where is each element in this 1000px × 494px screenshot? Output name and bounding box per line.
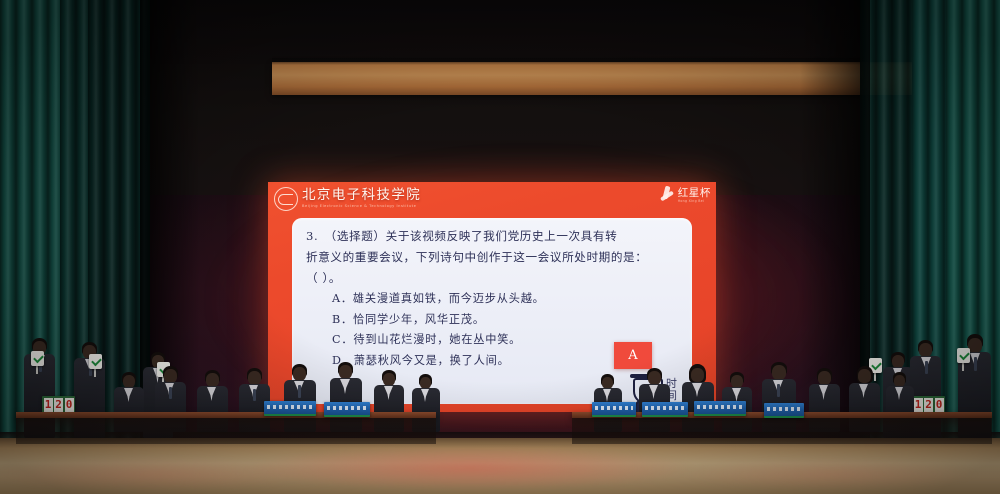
name-placard-left-2 — [324, 402, 370, 417]
question-line-2: 折意义的重要会议，下列诗句中创作于这一会议所处时期的是： — [306, 247, 678, 268]
head — [164, 369, 177, 383]
institution-name-en: Beijing Electronic Science & Technology … — [302, 205, 421, 209]
paddle-handle-left-1 — [36, 365, 38, 374]
answer-indicator-letter: A — [628, 348, 637, 363]
tie — [925, 361, 928, 374]
cup-name-en: Hong Xing Bei — [678, 200, 711, 203]
institution-logo: 北京电子科技学院 Beijing Electronic Science & Te… — [274, 187, 421, 211]
head — [968, 338, 982, 353]
scoreboard-left: 1 2 0 — [42, 396, 75, 413]
head — [691, 368, 704, 382]
stage-floor-reflection — [0, 448, 1000, 494]
head — [648, 371, 661, 385]
check-paddle-right-3 — [957, 348, 970, 363]
paddle-handle-right-3 — [962, 362, 964, 371]
scoreboard-left-digit-1: 1 — [44, 398, 53, 412]
answer-indicator-badge: A — [614, 342, 652, 369]
star-runner-icon — [659, 186, 676, 205]
cup-logo: 红星杯 Hong Xing Bei — [659, 186, 711, 205]
stage-photo: 北京电子科技学院 Beijing Electronic Science & Te… — [0, 0, 1000, 494]
tie — [777, 384, 780, 397]
tie — [298, 385, 301, 398]
check-paddle-left-2 — [89, 354, 102, 369]
name-placard-right-4 — [764, 403, 804, 418]
head — [772, 365, 786, 380]
scoreboard-left-digit-2: 2 — [54, 398, 63, 412]
head — [293, 367, 306, 381]
tie — [169, 387, 172, 399]
tie — [253, 389, 256, 401]
scoreboard-right-digit-3: 0 — [935, 398, 944, 412]
paddle-handle-left-2 — [94, 368, 96, 377]
contestant-table-left-skirt — [16, 418, 436, 444]
option-a: A．雄关漫道真如铁，而今迈步从头越。 — [306, 289, 678, 310]
institution-name-cn: 北京电子科技学院 — [302, 189, 421, 203]
head — [919, 343, 932, 357]
cup-name-cn: 红星杯 — [678, 188, 711, 199]
head — [248, 371, 261, 385]
head — [206, 373, 219, 387]
check-paddle-left-1 — [31, 351, 44, 366]
head — [818, 371, 831, 385]
cup-name-block: 红星杯 Hong Xing Bei — [678, 188, 711, 203]
slide-header: 北京电子科技学院 Beijing Electronic Science & Te… — [268, 182, 716, 218]
name-placard-right-1 — [592, 402, 636, 417]
institution-seal-icon — [274, 187, 298, 211]
name-placard-right-3 — [694, 401, 746, 416]
question-line-1: 3. （选择题）关于该视频反映了我们党历史上一次具有转 — [306, 226, 678, 247]
question-line-3: （ ）。 — [306, 268, 678, 289]
institution-name-block: 北京电子科技学院 Beijing Electronic Science & Te… — [302, 189, 421, 209]
head — [339, 365, 352, 379]
contestant-table-right-skirt — [572, 418, 992, 444]
head — [858, 369, 871, 383]
scoreboard-left-digit-3: 0 — [65, 398, 74, 412]
tie — [974, 357, 977, 371]
name-placard-left-1 — [264, 401, 316, 416]
name-placard-right-2 — [642, 402, 688, 417]
scoreboard-right-digit-2: 2 — [924, 398, 933, 412]
option-b: B．恰同学少年，风华正茂。 — [306, 310, 678, 331]
